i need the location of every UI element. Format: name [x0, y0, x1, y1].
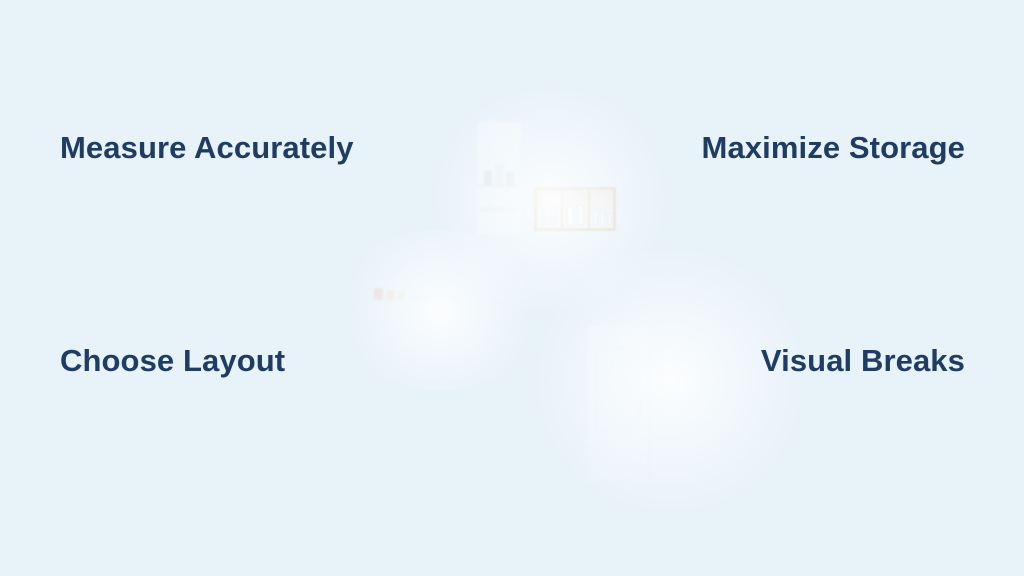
door-panel — [588, 326, 650, 481]
shelf-divider — [588, 190, 590, 228]
heading-maximize-storage: Maximize Storage — [702, 132, 965, 163]
jar-shape — [550, 207, 557, 226]
heading-choose-layout: Choose Layout — [60, 345, 285, 376]
white-haze-overlay — [330, 230, 550, 390]
shelf-frame — [534, 187, 616, 231]
bottle-shape — [495, 164, 504, 186]
jar-shape — [577, 205, 584, 226]
door-handle — [640, 398, 643, 414]
jar-shape — [607, 213, 612, 226]
heading-measure-accurately: Measure Accurately — [60, 132, 354, 163]
white-haze-overlay — [520, 250, 820, 510]
jar-shape — [567, 205, 574, 226]
jar-shape — [600, 209, 605, 226]
jar-shape — [541, 210, 547, 226]
slide-canvas: Measure Accurately Maximize Storage Choo… — [0, 0, 1024, 576]
background-imagery-layer — [0, 0, 1024, 576]
jar-shape — [593, 209, 598, 226]
shelf-line — [479, 184, 519, 187]
faded-wooden-shelf-image — [534, 187, 616, 231]
shelf-line — [479, 208, 519, 211]
container-shape — [387, 290, 395, 300]
door-inset — [596, 345, 638, 431]
faded-small-containers-image — [370, 282, 465, 304]
container-shape — [398, 291, 405, 300]
shelf-divider — [561, 190, 563, 228]
faded-cabinet-door-image — [588, 326, 650, 481]
bottle-shape — [506, 172, 514, 186]
bottle-shape — [484, 170, 492, 186]
tray-shape — [410, 296, 462, 301]
white-haze-overlay — [420, 90, 680, 310]
faded-vertical-shelf-image — [477, 122, 521, 234]
container-shape — [374, 288, 383, 300]
heading-visual-breaks: Visual Breaks — [761, 345, 965, 376]
